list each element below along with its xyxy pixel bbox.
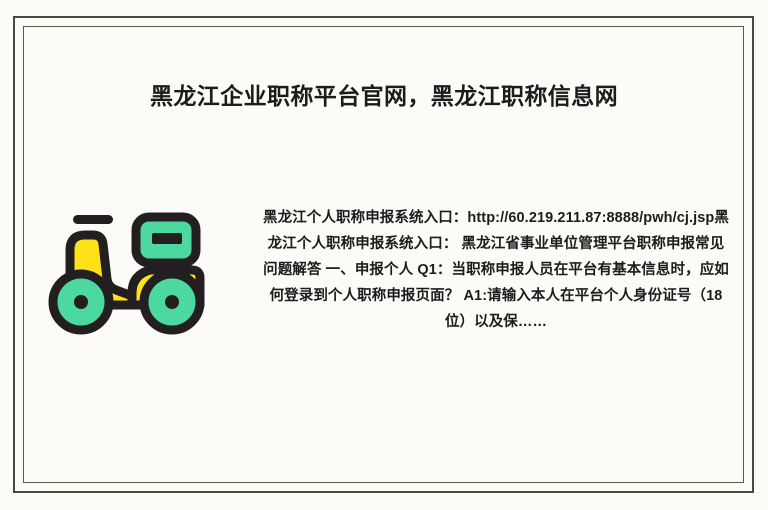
delivery-scooter-icon <box>44 195 214 335</box>
content-row: 黑龙江个人职称申报系统入口：http://60.219.211.87:8888/… <box>0 195 768 395</box>
page-title: 黑龙江企业职称平台官网，黑龙江职称信息网 <box>0 82 768 112</box>
article-summary: 黑龙江个人职称申报系统入口：http://60.219.211.87:8888/… <box>262 205 730 335</box>
